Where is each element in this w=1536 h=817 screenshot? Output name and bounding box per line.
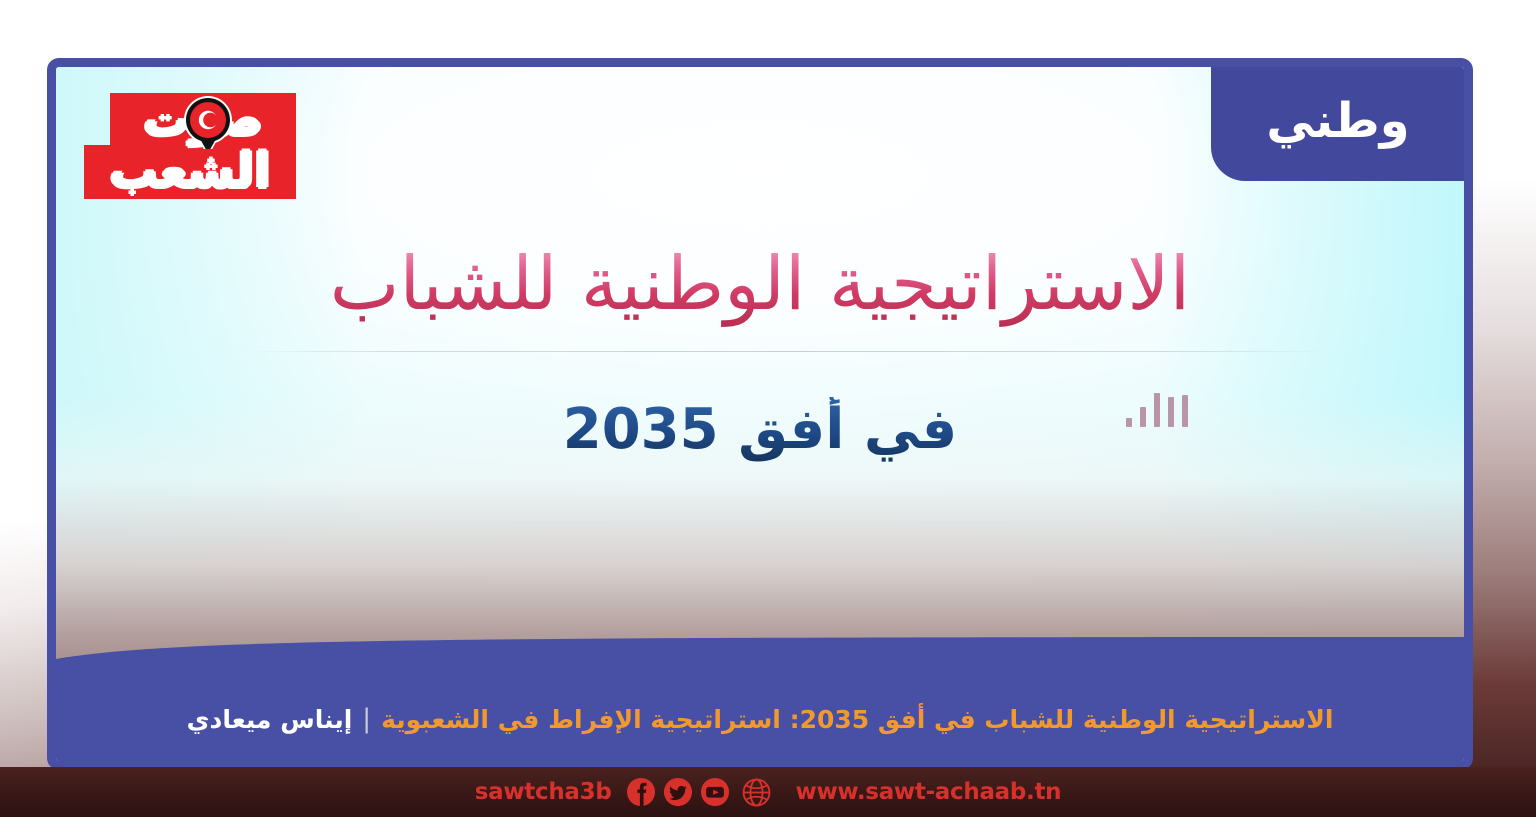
footer-inner: sawtcha3b xyxy=(475,777,1062,808)
caption-separator: | xyxy=(362,704,371,734)
category-badge-label: وطني xyxy=(1266,97,1409,151)
poster-decorative-marks xyxy=(1126,393,1188,427)
poster-headline: الاستراتيجية الوطنية للشباب xyxy=(56,239,1464,329)
globe-icon[interactable] xyxy=(741,777,772,808)
twitter-icon[interactable] xyxy=(663,777,693,807)
caption-author: إيناس ميعادي xyxy=(187,705,353,734)
article-caption-bar: الاستراتيجية الوطنية للشباب في أفق 2035:… xyxy=(56,663,1464,761)
poster-subheadline: في أفق 2035 xyxy=(56,397,1464,462)
poster-divider xyxy=(242,351,1330,352)
poster-canvas: صوت الشعب وطني الاستراتيج xyxy=(0,0,1536,817)
tunisia-flag-pin-icon xyxy=(181,95,235,149)
logo-word-bottom: الشعب xyxy=(88,143,292,199)
poster-graphic: صوت الشعب وطني الاستراتيج xyxy=(56,67,1464,667)
category-badge[interactable]: وطني xyxy=(1211,67,1464,181)
caption-curve xyxy=(56,637,1464,667)
caption-title: الاستراتيجية الوطنية للشباب في أفق 2035:… xyxy=(381,705,1333,734)
site-url: www.sawt-achaab.tn xyxy=(796,779,1062,805)
article-card: صوت الشعب وطني الاستراتيج xyxy=(47,58,1473,770)
facebook-icon[interactable] xyxy=(626,777,656,807)
youtube-icon[interactable] xyxy=(700,777,730,807)
social-handle: sawtcha3b xyxy=(475,779,612,805)
article-image: صوت الشعب وطني الاستراتيج xyxy=(56,67,1464,667)
article-caption: الاستراتيجية الوطنية للشباب في أفق 2035:… xyxy=(56,689,1464,749)
social-icons xyxy=(626,777,772,808)
site-footer: sawtcha3b xyxy=(0,767,1536,817)
sawt-achaab-logo: صوت الشعب xyxy=(84,87,299,202)
